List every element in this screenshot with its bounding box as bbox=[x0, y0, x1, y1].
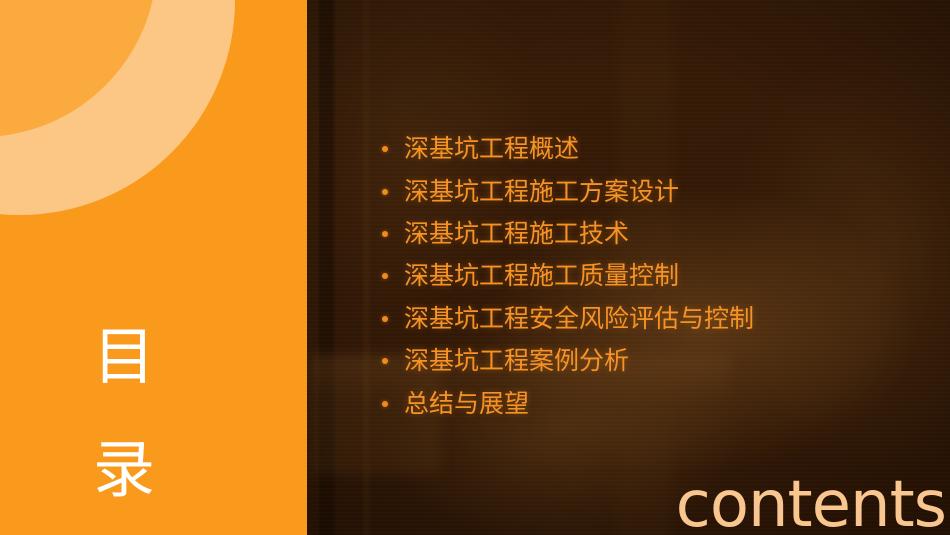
table-of-contents-list: 深基坑工程概述 深基坑工程施工方案设计 深基坑工程施工技术 深基坑工程施工质量控… bbox=[382, 128, 902, 425]
list-item[interactable]: 总结与展望 bbox=[382, 382, 902, 424]
bullet-icon bbox=[382, 231, 388, 237]
list-item-label: 深基坑工程安全风险评估与控制 bbox=[404, 305, 754, 333]
list-item-label: 深基坑工程概述 bbox=[404, 135, 579, 163]
list-item[interactable]: 深基坑工程施工质量控制 bbox=[382, 255, 902, 297]
page-title: 目 录 bbox=[0, 300, 250, 526]
bullet-icon bbox=[382, 401, 388, 407]
list-item[interactable]: 深基坑工程概述 bbox=[382, 128, 902, 170]
page-title-char-2: 录 bbox=[0, 413, 250, 526]
bullet-icon bbox=[382, 146, 388, 152]
list-item-label: 深基坑工程案例分析 bbox=[404, 347, 629, 375]
list-item-label: 总结与展望 bbox=[404, 390, 529, 418]
left-orange-panel: 目 录 bbox=[0, 0, 307, 535]
list-item-label: 深基坑工程施工质量控制 bbox=[404, 262, 679, 290]
list-item[interactable]: 深基坑工程案例分析 bbox=[382, 340, 902, 382]
list-item-label: 深基坑工程施工方案设计 bbox=[404, 178, 679, 206]
list-item[interactable]: 深基坑工程施工技术 bbox=[382, 213, 902, 255]
page-title-char-1: 目 bbox=[0, 300, 250, 413]
list-item[interactable]: 深基坑工程安全风险评估与控制 bbox=[382, 298, 902, 340]
bullet-icon bbox=[382, 316, 388, 322]
list-item-label: 深基坑工程施工技术 bbox=[404, 220, 629, 248]
list-item[interactable]: 深基坑工程施工方案设计 bbox=[382, 170, 902, 212]
contents-wordmark: contents bbox=[676, 469, 946, 535]
bullet-icon bbox=[382, 273, 388, 279]
bullet-icon bbox=[382, 189, 388, 195]
bullet-icon bbox=[382, 358, 388, 364]
slide-canvas: 目 录 深基坑工程概述 深基坑工程施工方案设计 深基坑工程施工技术 深基坑工程施… bbox=[0, 0, 950, 535]
